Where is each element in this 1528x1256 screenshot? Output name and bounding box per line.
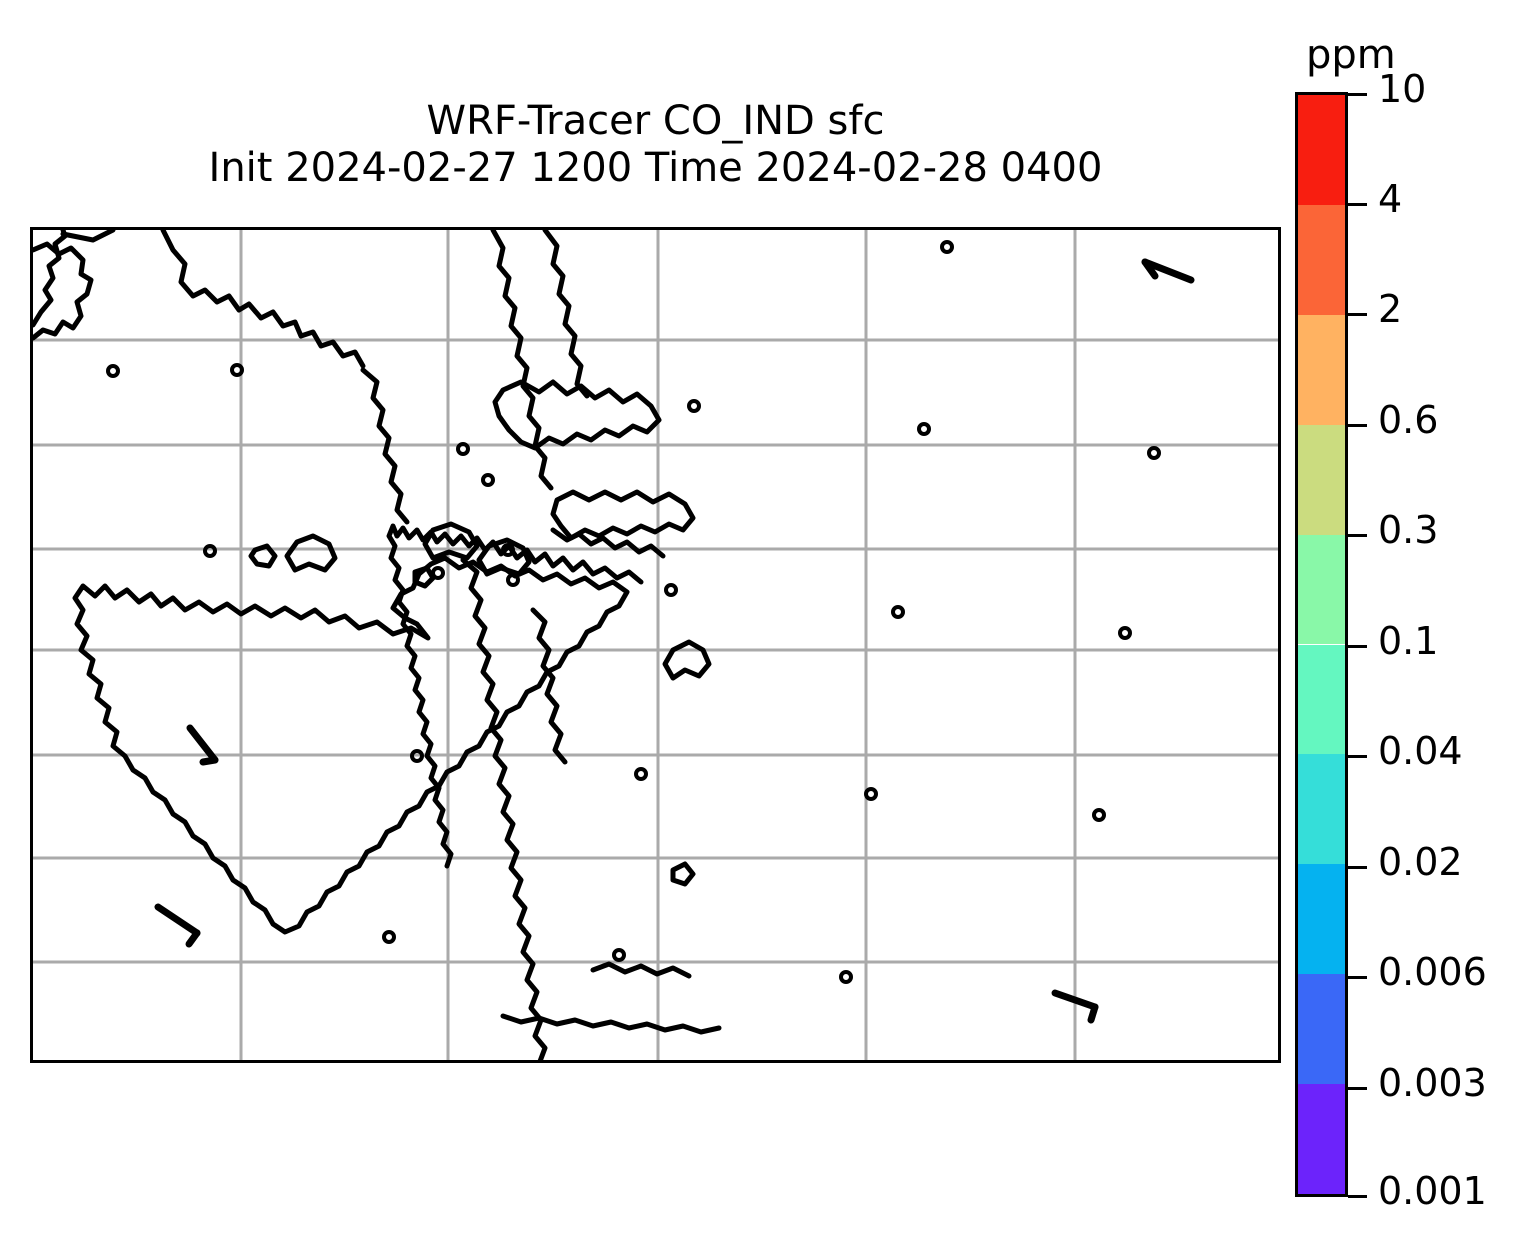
colorbar-ticklabel: 0.1 [1378,622,1438,660]
colorbar-segment-0.1-0.3 [1298,535,1345,645]
calm-wind-circle [205,546,215,556]
wind-barb [190,728,215,762]
colorbar-segment-0.6-2 [1298,315,1345,425]
colorbar-tick [1348,313,1367,316]
calm-wind-circle [942,242,952,252]
colorbar-tick [1348,93,1367,96]
colorbar-segment-2-4 [1298,205,1345,315]
title-line-2: Init 2024-02-27 1200 Time 2024-02-28 040… [30,145,1281,192]
calm-wind-circle [689,401,699,411]
wind-barb [1145,262,1191,280]
map-plot-area[interactable] [30,227,1281,1063]
coastline-philippines-east [545,230,587,396]
colorbar-tick [1348,1195,1367,1198]
coastline-sabah [495,382,659,448]
wind-barb [158,907,197,944]
coastline-mindanao [553,492,693,538]
calm-wind-circle [919,424,929,434]
coastline-thai-malay [163,230,363,366]
map-canvas [33,230,1281,1063]
colorbar-ticklabel: 0.003 [1378,1064,1487,1102]
coastline-halmahera [665,642,709,678]
colorbar-segment-0.02-0.04 [1298,754,1345,864]
colorbar-segment-0.04-0.1 [1298,645,1345,755]
colorbar-segment-0.006-0.02 [1298,864,1345,974]
calm-wind-circle [384,932,394,942]
colorbar-tick [1348,866,1367,869]
coastline-north-sumatra [63,230,113,240]
calm-wind-circle [1094,810,1104,820]
coastline-small-island-1 [251,546,275,566]
chart-title: WRF-Tracer CO_IND sfc Init 2024-02-27 12… [30,98,1281,192]
calm-wind-circle [666,585,676,595]
colorbar-ticklabel: 0.04 [1378,732,1463,770]
coastline-island-a [287,536,335,570]
calm-wind-circle [433,568,443,578]
calm-wind-circle [636,769,646,779]
calm-wind-circle [866,789,876,799]
colorbar-segment-0.3-0.6 [1298,425,1345,535]
calm-wind-circle [458,444,468,454]
colorbar-segment-4-10 [1298,95,1345,205]
colorbar-ticklabel: 0.001 [1378,1172,1487,1210]
colorbar-ticklabel: 10 [1378,70,1426,108]
colorbar-ticklabel: 0.02 [1378,843,1463,881]
coastline-outlines [33,230,719,1063]
colorbar-tick [1348,976,1367,979]
calm-wind-circle [232,365,242,375]
calm-wind-circle [1120,628,1130,638]
colorbar[interactable] [1295,92,1348,1197]
colorbar-tick [1348,1087,1367,1090]
colorbar-tick [1348,755,1367,758]
colorbar-segment-0.001-0.003 [1298,1084,1345,1194]
coastline-central-detail [463,560,545,1063]
calm-wind-circle [483,475,493,485]
colorbar-ticklabel: 4 [1378,180,1402,218]
calm-wind-circle [841,972,851,982]
colorbar-ticklabel: 2 [1378,290,1402,328]
colorbar-tick [1348,645,1367,648]
colorbar-ticklabel: 0.6 [1378,401,1438,439]
title-line-1: WRF-Tracer CO_IND sfc [30,98,1281,145]
coastline-nusa-tenggara [593,964,689,976]
map-gridlines [33,230,1281,1063]
figure-canvas: WRF-Tracer CO_IND sfc Init 2024-02-27 12… [0,0,1528,1256]
calm-wind-circle [508,575,518,585]
coastline-philippines [493,230,551,488]
colorbar-tick [1348,203,1367,206]
colorbar-tick [1348,424,1367,427]
calm-wind-circle [108,366,118,376]
colorbar-ticklabel: 0.006 [1378,953,1487,991]
coastline-peninsula-west [33,244,91,338]
colorbar-segment-0.003-0.006 [1298,974,1345,1084]
coastline-borneo [75,558,627,932]
calm-wind-circle [1149,448,1159,458]
colorbar-tick [1348,534,1367,537]
calm-wind-circle [614,950,624,960]
calm-wind-circle [893,607,903,617]
coastline-small-island-3 [673,864,693,884]
colorbar-ticklabel: 0.3 [1378,511,1438,549]
